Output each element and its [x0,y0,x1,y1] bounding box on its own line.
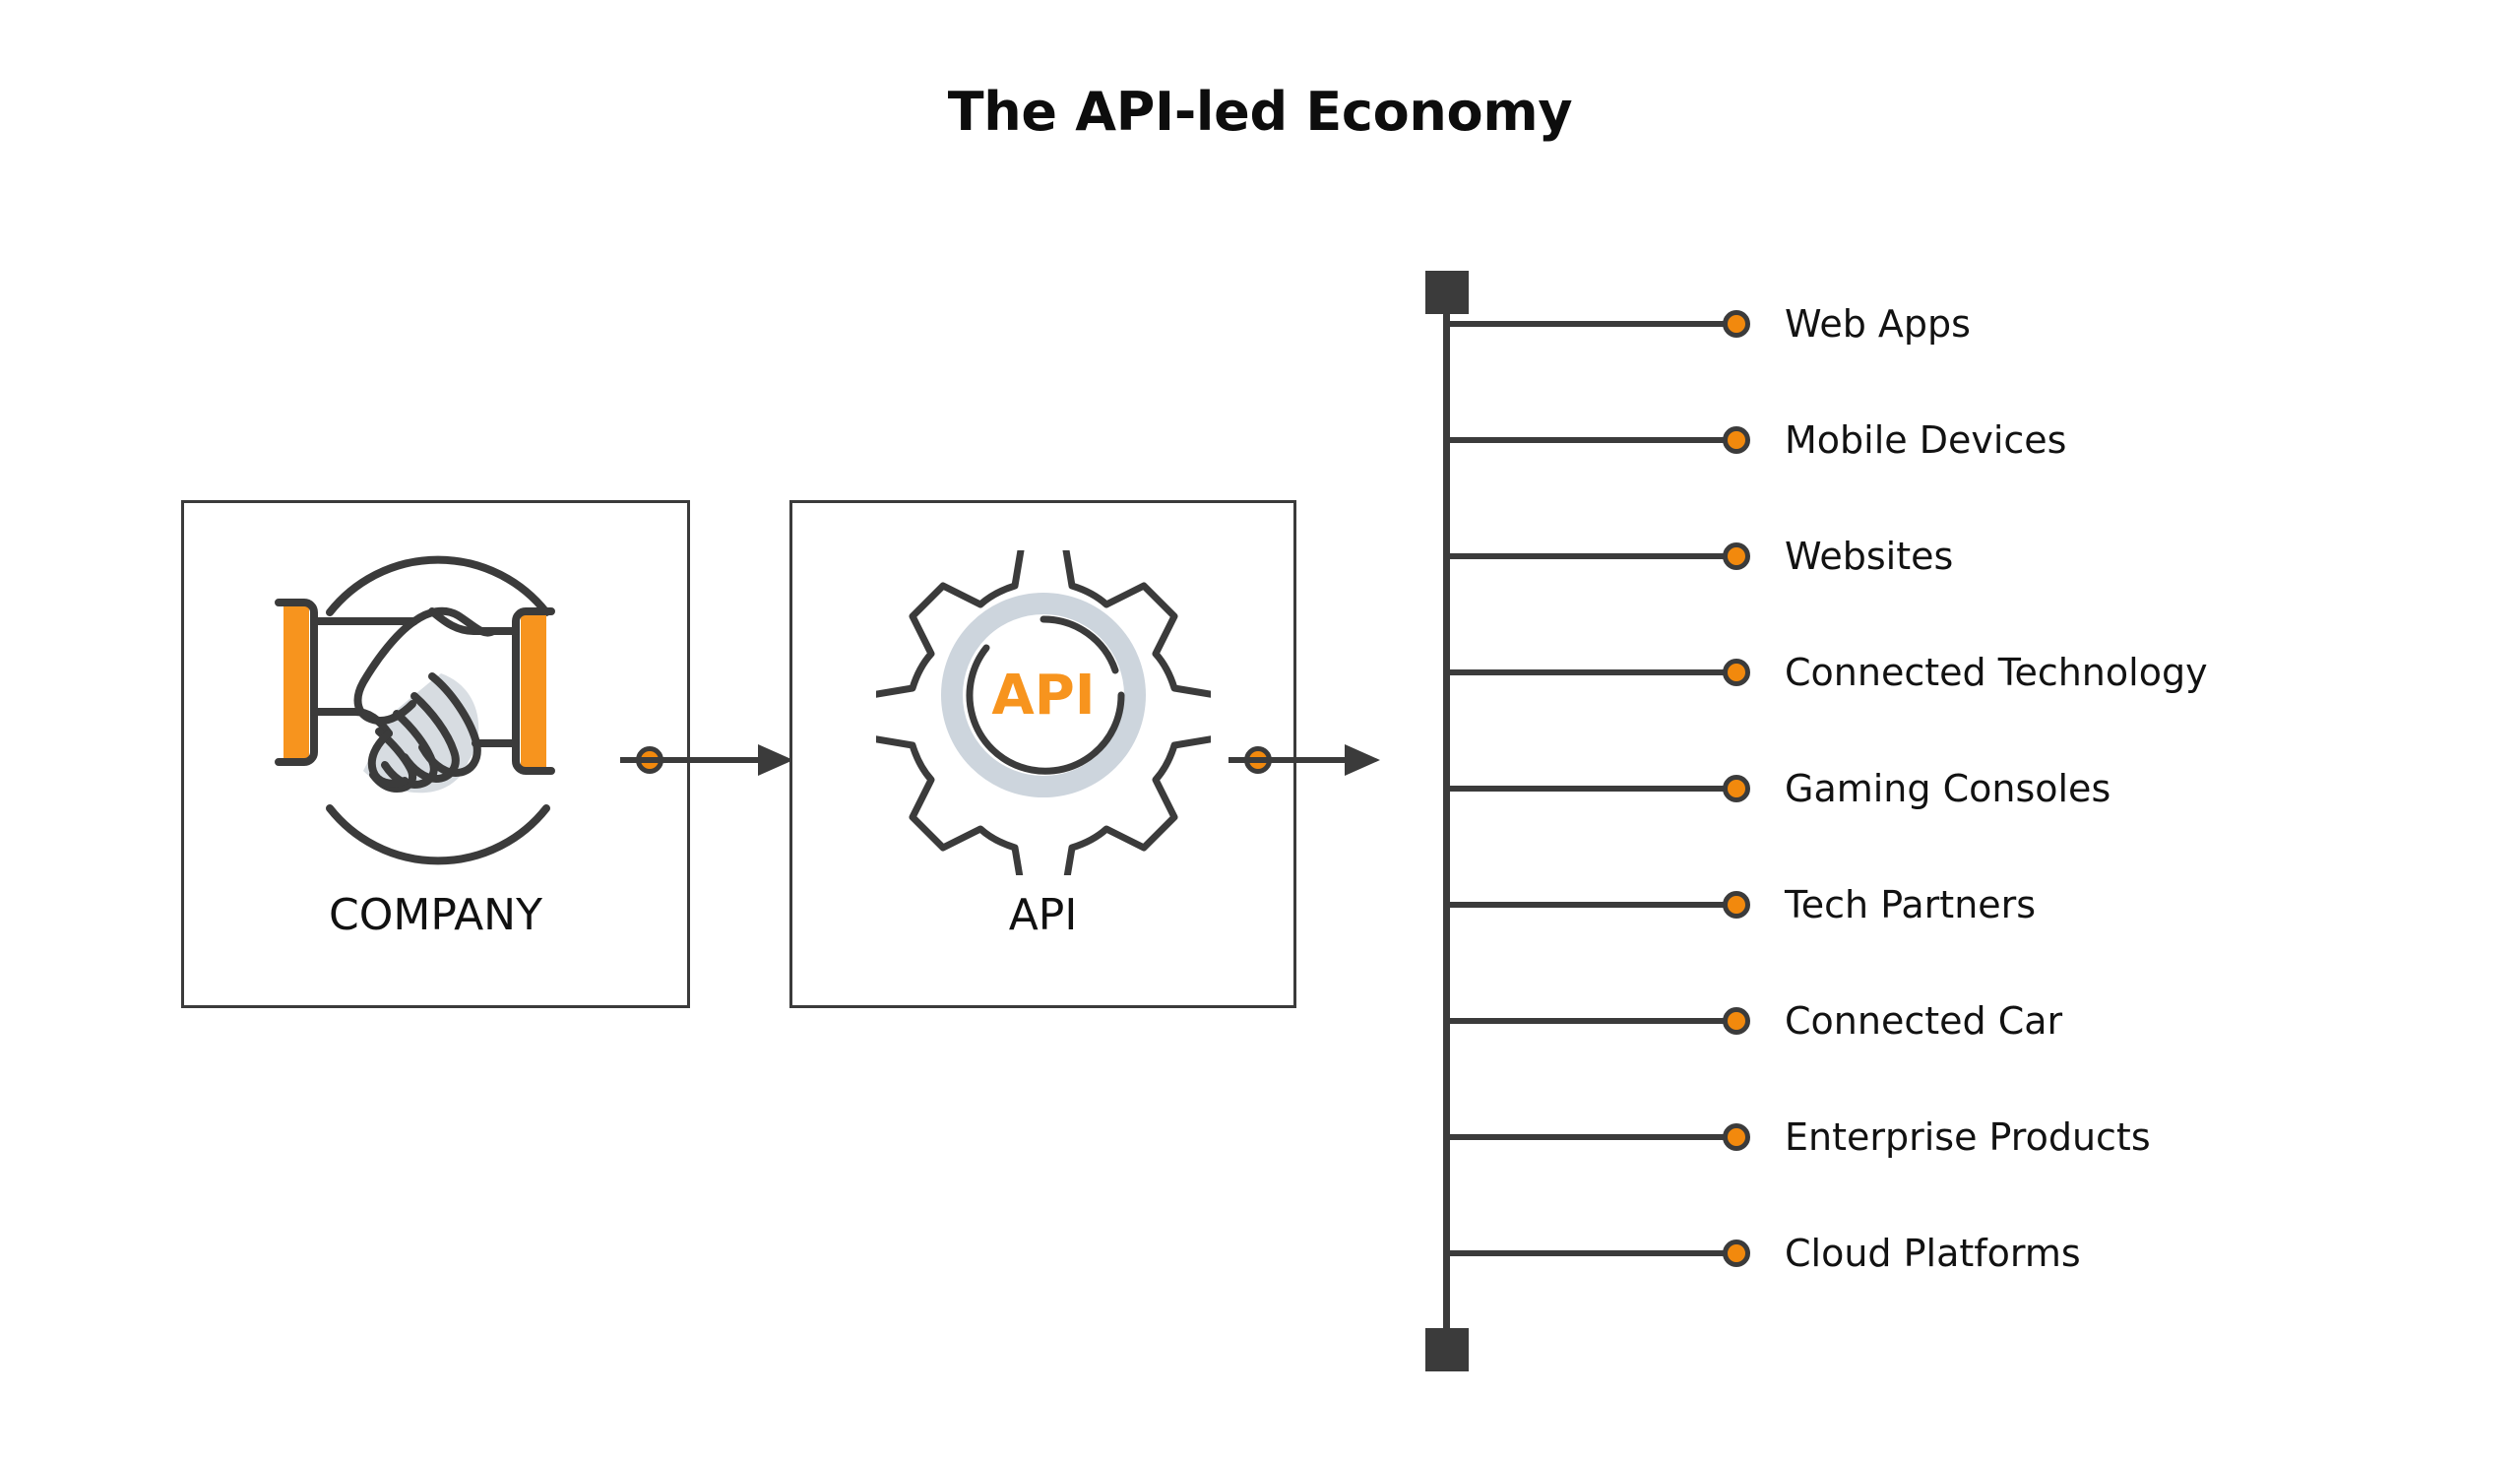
branch-dot-icon [1723,1123,1750,1151]
branch-dot-icon [1723,542,1750,570]
page-title: The API-led Economy [0,81,2520,143]
branch-connector [1443,1250,1727,1256]
node-company[interactable]: COMPANY [181,500,690,1008]
branch-dot-icon [1723,426,1750,454]
gear-api-text: API [991,664,1095,728]
diagram-canvas: The API-led Economy [0,0,2520,1462]
list-item[interactable]: Connected Car [1443,1006,2062,1036]
node-api-label: API [792,890,1293,940]
consumer-label: Connected Car [1785,1002,2062,1040]
branch-connector [1443,321,1727,327]
branch-dot-icon [1723,1007,1750,1035]
arrow-company-to-api [620,740,797,785]
branch-connector [1443,786,1727,792]
consumer-label: Cloud Platforms [1785,1235,2081,1272]
spine-cap-top [1425,271,1469,314]
list-item[interactable]: Tech Partners [1443,890,2036,920]
list-item[interactable]: Mobile Devices [1443,425,2066,455]
handshake-icon [239,550,633,880]
consumer-fanout: Web Apps Mobile Devices Websites Connect… [1417,261,2490,852]
arrow-api-to-consumers [1228,740,1386,785]
consumer-label: Mobile Devices [1785,421,2066,459]
list-item[interactable]: Web Apps [1443,309,1971,339]
branch-connector [1443,1134,1727,1140]
branch-connector [1443,902,1727,908]
gear-api-icon: API [876,550,1211,880]
branch-connector [1443,553,1727,559]
consumer-label: Tech Partners [1785,886,2036,923]
consumer-label: Websites [1785,538,1953,575]
consumer-label: Web Apps [1785,305,1971,343]
branch-dot-icon [1723,659,1750,686]
branch-connector [1443,1018,1727,1024]
branch-dot-icon [1723,775,1750,802]
list-item[interactable]: Connected Technology [1443,658,2208,687]
branch-connector [1443,437,1727,443]
node-company-label: COMPANY [184,890,687,940]
list-item[interactable]: Websites [1443,541,1953,571]
list-item[interactable]: Cloud Platforms [1443,1239,2081,1268]
branch-dot-icon [1723,1240,1750,1267]
branch-dot-icon [1723,891,1750,919]
consumer-label: Enterprise Products [1785,1118,2151,1156]
branch-dot-icon [1723,310,1750,338]
branch-connector [1443,669,1727,675]
consumer-label: Connected Technology [1785,654,2208,691]
spine-cap-bottom [1425,1328,1469,1371]
node-api[interactable]: API API [789,500,1296,1008]
consumer-label: Gaming Consoles [1785,770,2110,807]
list-item[interactable]: Gaming Consoles [1443,774,2110,803]
list-item[interactable]: Enterprise Products [1443,1122,2151,1152]
